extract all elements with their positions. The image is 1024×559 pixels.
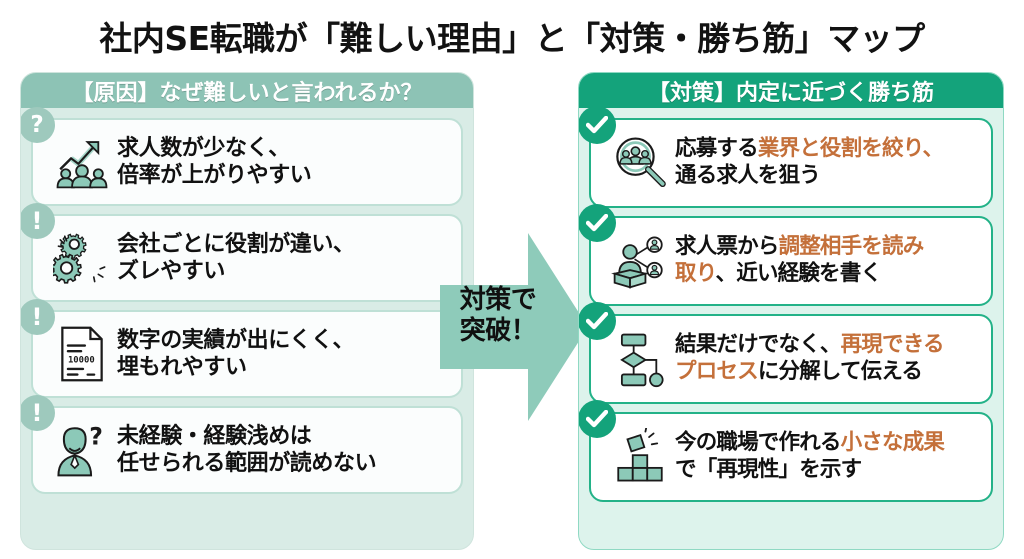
cause-card-1[interactable]: ? 求人数が少なく、 倍率が上がりやすい [31,118,463,206]
measure-card-4-line1: 今の職場で作れる小さな成果 [675,430,944,457]
cause-card-4[interactable]: ! ? 未経験・経験浅めは 任せられる範囲が読めない [31,406,463,494]
magnifier-people-icon [609,130,671,196]
transition-arrow: 対策で 突破！ [440,225,590,430]
text-highlight: 取り [675,261,716,286]
measure-card-2-line2: 取り、近い経験を書く [675,261,923,288]
text-plain: 結果だけでなく、 [675,332,841,357]
document-numbers-icon: 10000 [51,321,113,387]
cause-card-3-line2: 埋もれやすい [117,354,354,381]
cause-panel: 【原因】なぜ難しいと言われるか？ ? 求人数が [20,72,474,550]
text-highlight: 再現できる [841,332,944,357]
cause-card-1-line2: 倍率が上がりやすい [117,162,311,189]
check-badge-4 [578,400,616,438]
text-highlight: 業界と役割を絞り、 [758,136,943,161]
measure-card-list: 応募する業界と役割を絞り、 通る求人を狙う [579,108,1003,512]
cause-card-4-line1: 未経験・経験浅めは [117,423,376,450]
measure-card-3-line1: 結果だけでなく、再現できる [675,332,944,359]
check-badge-2 [578,204,616,242]
cause-card-2-text: 会社ごとに役割が違い、 ズレやすい [117,231,355,286]
text-highlight: プロセス [675,359,758,384]
flowchart-icon [609,326,671,392]
cause-card-3[interactable]: ! 10000 数字の実 [31,310,463,398]
cause-card-2-line2: ズレやすい [117,258,355,285]
measure-card-1-line1: 応募する業界と役割を絞り、 [675,136,943,163]
check-icon [586,116,608,134]
measure-card-3[interactable]: 結果だけでなく、再現できる プロセスに分解して伝える [589,314,993,404]
cause-card-3-text: 数字の実績が出にくく、 埋もれやすい [117,327,354,382]
measure-card-3-text: 結果だけでなく、再現できる プロセスに分解して伝える [675,332,944,385]
check-icon [586,410,608,428]
check-icon [586,214,608,232]
text-highlight: 調整相手を読み [779,234,924,259]
text-plain: で「再現性」を示す [675,457,861,482]
cause-card-1-text: 求人数が少なく、 倍率が上がりやすい [117,135,311,190]
person-question-icon: ? [51,417,113,483]
page-title: 社内SE転職が「難しい理由」と「対策・勝ち筋」マップ [0,12,1024,60]
measure-card-4-text: 今の職場で作れる小さな成果 で「再現性」を示す [675,430,944,483]
measure-panel-header: 【対策】内定に近づく勝ち筋 [579,73,1003,108]
cause-card-4-line2: 任せられる範囲が読めない [117,450,376,477]
cause-card-1-line1: 求人数が少なく、 [117,135,311,162]
measure-card-4-line2: で「再現性」を示す [675,457,944,484]
text-plain: 求人票から [675,234,779,259]
check-badge-3 [578,302,616,340]
text-plain: に分解して伝える [758,359,922,384]
cause-card-2[interactable]: ! [31,214,463,302]
exclamation-badge-3: ! [20,299,55,335]
text-plain: 通る求人を狙う [675,163,820,188]
exclamation-badge-2: ! [20,203,55,239]
person-network-reading-icon [609,228,671,294]
document-number-text: 10000 [68,355,95,365]
cause-card-list: ? 求人数が少なく、 倍率が上がりやすい [21,108,473,504]
gears-icon [51,225,113,291]
measure-card-4[interactable]: 今の職場で作れる小さな成果 で「再現性」を示す [589,412,993,502]
question-badge-1: ? [20,107,55,143]
cause-panel-header: 【原因】なぜ難しいと言われるか？ [21,73,473,108]
arrow-label-line1: 対策で [448,285,548,316]
measure-card-1-line2: 通る求人を狙う [675,163,943,190]
measure-panel: 【対策】内定に近づく勝ち筋 [578,72,1004,550]
measure-card-1[interactable]: 応募する業界と役割を絞り、 通る求人を狙う [589,118,993,208]
growth-chart-people-icon [51,129,113,195]
text-plain: 今の職場で作れる [675,430,841,455]
check-icon [586,312,608,330]
cause-card-4-text: 未経験・経験浅めは 任せられる範囲が読めない [117,423,376,478]
cause-card-2-line1: 会社ごとに役割が違い、 [117,231,355,258]
text-highlight: 小さな成果 [841,430,945,455]
text-plain: 応募する [675,136,758,161]
check-badge-1 [578,106,616,144]
exclamation-badge-4: ! [20,395,55,431]
measure-card-1-text: 応募する業界と役割を絞り、 通る求人を狙う [675,136,943,189]
measure-card-3-line2: プロセスに分解して伝える [675,359,944,386]
measure-card-2-text: 求人票から調整相手を読み 取り、近い経験を書く [675,234,923,287]
arrow-label-line2: 突破！ [448,316,548,347]
text-plain: 、近い経験を書く [716,261,882,286]
arrow-label: 対策で 突破！ [448,285,548,347]
building-blocks-icon [609,424,671,490]
cause-card-3-line1: 数字の実績が出にくく、 [117,327,354,354]
measure-card-2-line1: 求人票から調整相手を読み [675,234,923,261]
svg-text:?: ? [89,423,103,451]
measure-card-2[interactable]: 求人票から調整相手を読み 取り、近い経験を書く [589,216,993,306]
